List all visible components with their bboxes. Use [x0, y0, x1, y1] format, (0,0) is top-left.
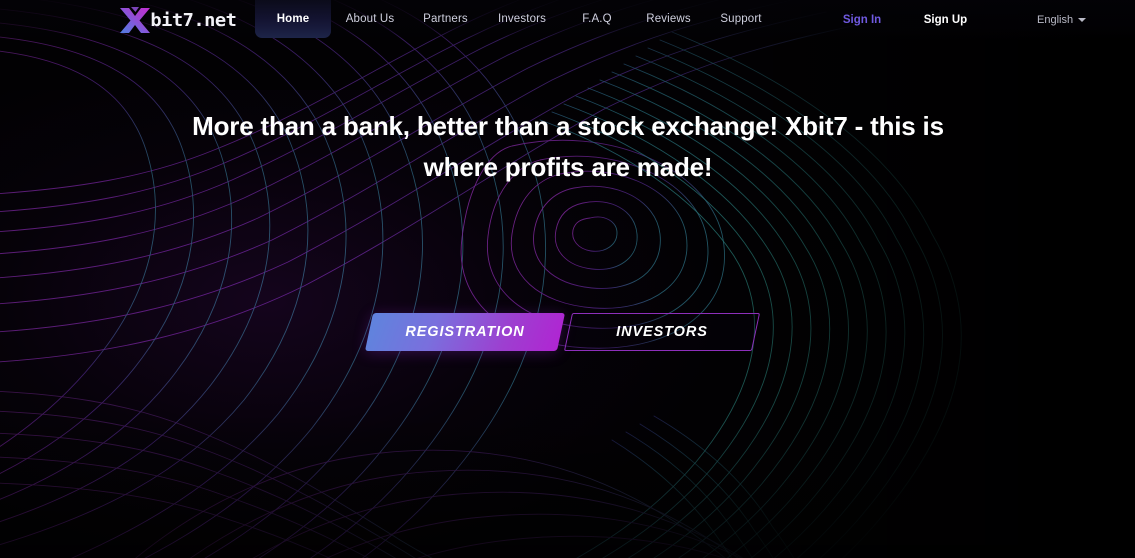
- sign-in-link[interactable]: Sign In: [826, 14, 898, 26]
- x-logo-icon: [118, 5, 152, 35]
- hero-cta-group: REGISTRATION INVESTORS: [0, 308, 1135, 356]
- nav-item-investors[interactable]: Investors: [482, 0, 562, 38]
- site-logo[interactable]: bit7.net: [118, 0, 235, 40]
- nav-item-label: Investors: [498, 13, 546, 25]
- site-header: bit7.net HomeAbout UsPartnersInvestorsF.…: [0, 0, 1135, 40]
- page-root: bit7.net HomeAbout UsPartnersInvestorsF.…: [0, 0, 1135, 558]
- nav-item-label: Support: [720, 13, 761, 25]
- header-actions: Sign In Sign Up English: [826, 0, 1086, 40]
- language-selector[interactable]: English: [1037, 14, 1086, 26]
- nav-item-about-us[interactable]: About Us: [331, 0, 409, 38]
- main-navigation: HomeAbout UsPartnersInvestorsF.A.QReview…: [255, 0, 777, 40]
- nav-item-label: Partners: [423, 13, 468, 25]
- nav-item-label: Home: [277, 13, 310, 25]
- nav-item-label: About Us: [346, 13, 395, 25]
- nav-item-label: F.A.Q: [582, 13, 612, 25]
- nav-item-label: Reviews: [646, 13, 691, 25]
- logo-wordmark: bit7.net: [150, 10, 236, 31]
- investors-button[interactable]: INVESTORS: [568, 313, 756, 351]
- investors-button-label: INVESTORS: [616, 324, 708, 340]
- hero-headline: More than a bank, better than a stock ex…: [180, 106, 956, 188]
- sign-up-link[interactable]: Sign Up: [898, 14, 993, 26]
- registration-button-label: REGISTRATION: [405, 324, 524, 340]
- nav-item-partners[interactable]: Partners: [409, 0, 482, 38]
- hero-section: More than a bank, better than a stock ex…: [0, 0, 1135, 558]
- nav-item-faq[interactable]: F.A.Q: [562, 0, 632, 38]
- language-selector-label: English: [1037, 14, 1073, 26]
- nav-item-reviews[interactable]: Reviews: [632, 0, 705, 38]
- chevron-down-icon: [1078, 18, 1086, 22]
- topographic-background: [0, 0, 1135, 558]
- nav-item-home[interactable]: Home: [255, 0, 331, 38]
- right-vignette: [715, 0, 1135, 558]
- registration-button[interactable]: REGISTRATION: [369, 313, 561, 351]
- nav-item-support[interactable]: Support: [705, 0, 777, 38]
- bottom-vignette: [0, 408, 1135, 558]
